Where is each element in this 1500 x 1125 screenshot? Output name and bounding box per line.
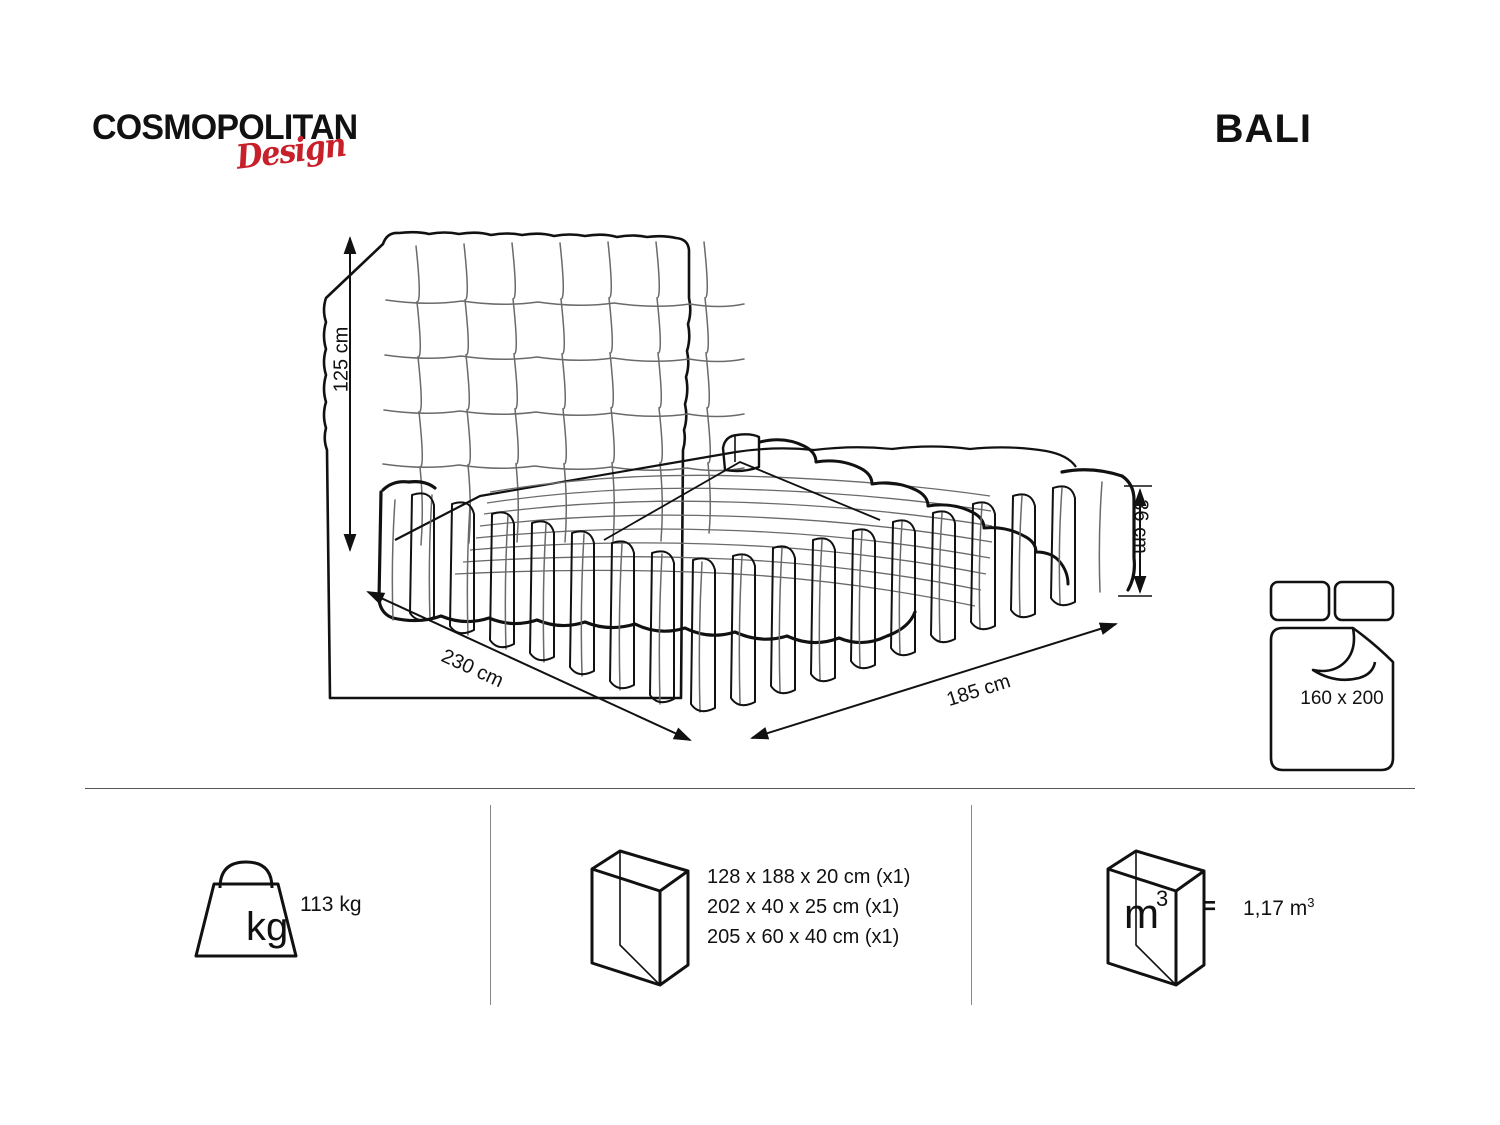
product-spec-sheet: COSMOPOLITAN Design BALI <box>0 0 1500 1125</box>
dimension-label-height: 125 cm <box>330 327 353 393</box>
brand-logo: COSMOPOLITAN Design <box>92 108 422 188</box>
section-divider-1 <box>490 805 491 1005</box>
weight-icon-label: kg <box>246 905 288 949</box>
package-item: 128 x 188 x 20 cm (x1) <box>707 862 910 892</box>
volume-value: 1,17 m3 <box>1243 895 1314 921</box>
package-item: 205 x 60 x 40 cm (x1) <box>707 922 910 952</box>
mattress-size-label: 160 x 200 <box>1280 688 1404 710</box>
dimension-label-depth: 230 cm <box>437 645 506 693</box>
dimension-label-width: 185 cm <box>944 670 1013 712</box>
bed-linen-icon <box>1271 582 1393 770</box>
box-outline-icon <box>592 851 688 985</box>
dimension-line-width <box>752 624 1116 738</box>
dimension-label-thickness: 36 cm <box>1129 499 1152 553</box>
footer-divider <box>85 788 1415 789</box>
volume-icon-text: m 3 <box>1120 878 1210 948</box>
volume-value-exponent: 3 <box>1307 895 1314 910</box>
page-title: BALI <box>1215 107 1312 152</box>
weight-value: 113 kg <box>300 893 362 917</box>
weight-icon-text: kg <box>214 884 314 960</box>
dimension-line-depth <box>368 592 690 740</box>
section-divider-2 <box>971 805 972 1005</box>
volume-icon-label: m <box>1124 890 1159 937</box>
package-dimensions-list: 128 x 188 x 20 cm (x1) 202 x 40 x 25 cm … <box>707 862 910 952</box>
volume-equals-sign: = <box>1202 893 1216 921</box>
volume-icon-exponent: 3 <box>1156 886 1168 911</box>
package-item: 202 x 40 x 25 cm (x1) <box>707 892 910 922</box>
volume-value-text: 1,17 m <box>1243 897 1307 920</box>
